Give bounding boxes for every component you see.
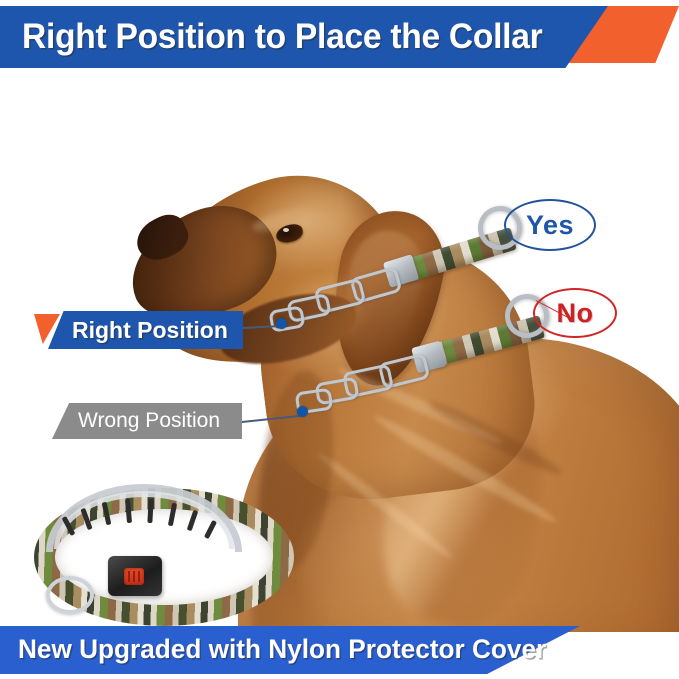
infographic-canvas: Right Position to Place the Collar Right… — [0, 0, 679, 679]
footer-title: New Upgraded with Nylon Protector Cover — [18, 634, 546, 665]
release-button-icon — [124, 568, 144, 585]
verdict-yes-text: Yes — [526, 210, 574, 241]
verdict-yes-badge: Yes — [504, 199, 596, 251]
label-right-position-text: Right Position — [48, 317, 228, 344]
verdict-no-badge: No — [533, 288, 617, 338]
connector-dot — [276, 318, 287, 329]
connector-dot — [297, 406, 308, 417]
verdict-no-text: No — [557, 298, 594, 329]
page-title-accent: Collar — [449, 17, 542, 56]
page-title-main: Right Position to Place the — [22, 17, 449, 56]
label-wrong-position-text: Wrong Position — [52, 409, 220, 433]
leash-o-ring-icon — [46, 576, 94, 614]
page-title: Right Position to Place the Collar — [22, 17, 542, 57]
label-wrong-position[interactable]: Wrong Position — [52, 403, 242, 439]
dog-eye-highlight — [283, 228, 289, 232]
label-right-position[interactable]: Right Position — [48, 311, 243, 349]
collar-product-image — [28, 470, 260, 610]
